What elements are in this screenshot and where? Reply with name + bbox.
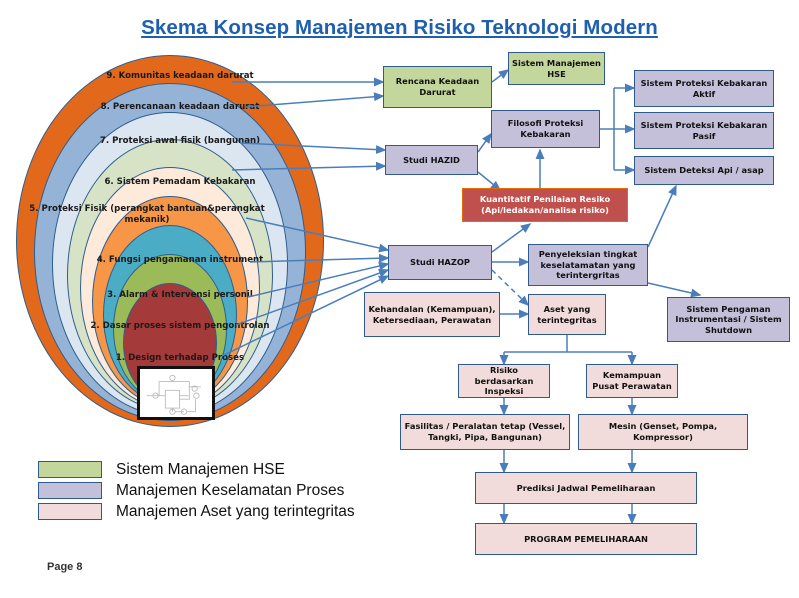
box-rencana-keadaan-darurat[interactable]: Rencana Keadaan Darurat (383, 66, 492, 108)
box-studi-hazid[interactable]: Studi HAZID (385, 145, 478, 175)
box-kehandalan[interactable]: Kehandalan (Kemampuan), Ketersediaan, Pe… (364, 292, 500, 337)
legend-swatch-green (38, 461, 102, 478)
box-aset-yang-terintegritas[interactable]: Aset yang terintegritas (528, 294, 606, 335)
onion-label-6: 6. Sistem Pemadam Kebakaran (0, 177, 360, 188)
onion-diagram: 9. Komunitas keadaan darurat 8. Perencan… (0, 0, 360, 420)
onion-label-2: 2. Dasar proses sistem pengontrolan (0, 321, 360, 332)
box-sistem-proteksi-kebakaran-pasif[interactable]: Sistem Proteksi Kebakaran Pasif (634, 112, 774, 149)
box-sistem-deteksi-api-asap[interactable]: Sistem Deteksi Api / asap (634, 156, 774, 185)
onion-label-8: 8. Perencanaan keadaan darurat (0, 102, 360, 113)
box-filosofi-proteksi-kebakaran[interactable]: Filosofi Proteksi Kebakaran (491, 110, 600, 148)
onion-label-5: 5. Proteksi Fisik (perangkat bantuan&per… (22, 204, 272, 225)
box-mesin[interactable]: Mesin (Genset, Pompa, Kompressor) (578, 414, 748, 450)
box-sistem-proteksi-kebakaran-aktif[interactable]: Sistem Proteksi Kebakaran Aktif (634, 70, 774, 107)
box-prediksi-jadwal-pemeliharaan[interactable]: Prediksi Jadwal Pemeliharaan (475, 472, 697, 504)
legend-swatch-purple (38, 482, 102, 499)
legend-label-proses: Manajemen Keselamatan Proses (116, 482, 344, 500)
legend: Sistem Manajemen HSE Manajemen Keselamat… (38, 459, 355, 522)
page-number: Page 8 (47, 561, 82, 573)
slide-canvas: Skema Konsep Manajemen Risiko Teknologi … (0, 0, 799, 598)
legend-label-aset: Manajemen Aset yang terintegritas (116, 503, 355, 521)
onion-label-4: 4. Fungsi pengamanan instrument (0, 255, 360, 266)
box-studi-hazop[interactable]: Studi HAZOP (388, 245, 492, 280)
legend-label-hse: Sistem Manajemen HSE (116, 461, 285, 479)
onion-label-7: 7. Proteksi awal fisik (bangunan) (0, 136, 360, 147)
legend-item-hse: Sistem Manajemen HSE (38, 459, 355, 480)
onion-label-3: 3. Alarm & Intervensi personil (0, 290, 360, 301)
box-kemampuan-pusat-perawatan[interactable]: Kemampuan Pusat Perawatan (586, 364, 678, 398)
box-penyeleksian-tingkat[interactable]: Penyeleksian tingkat keselatamatan yang … (528, 244, 648, 286)
onion-label-1: 1. Design terhadap Proses (0, 353, 360, 364)
onion-label-9: 9. Komunitas keadaan darurat (0, 71, 360, 82)
legend-swatch-pink (38, 503, 102, 520)
legend-item-aset: Manajemen Aset yang terintegritas (38, 501, 355, 522)
process-diagram-thumbnail (137, 366, 215, 420)
box-sistem-manajemen-hse[interactable]: Sistem Manajemen HSE (508, 52, 605, 85)
box-fasilitas-peralatan-tetap[interactable]: Fasilitas / Peralatan tetap (Vessel, Tan… (400, 414, 570, 450)
box-kuantitatif-penilaian-resiko[interactable]: Kuantitatif Penilaian Resiko (Api/ledaka… (462, 188, 628, 222)
legend-item-proses: Manajemen Keselamatan Proses (38, 480, 355, 501)
box-risiko-berdasarkan-inspeksi[interactable]: Risiko berdasarkan Inspeksi (458, 364, 550, 398)
box-program-pemeliharaan[interactable]: PROGRAM PEMELIHARAAN (475, 523, 697, 555)
box-sistem-pengaman-instrumentasi[interactable]: Sistem Pengaman Instrumentasi / Sistem S… (667, 297, 790, 342)
